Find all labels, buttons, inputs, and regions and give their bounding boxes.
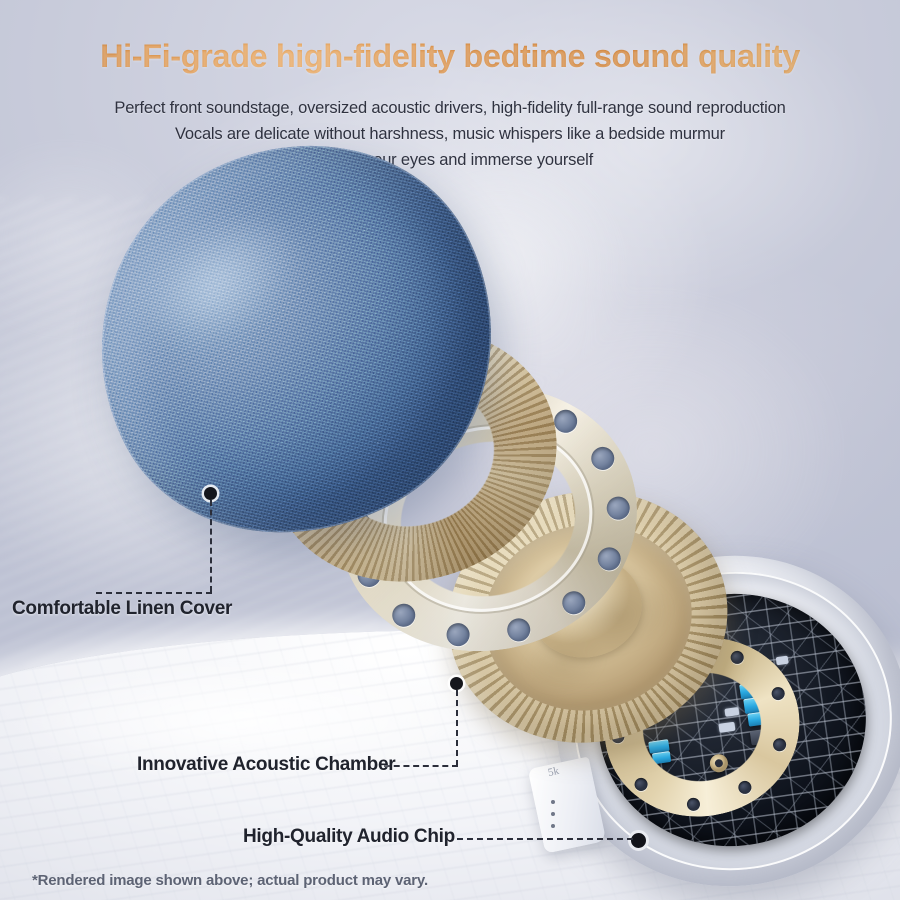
callout-leader-linen-vertical [210,500,212,592]
tab-dot [551,824,555,828]
callout-label-acoustic-chamber: Innovative Acoustic Chamber [137,754,395,776]
callout-leader-linen-horizontal [96,592,212,594]
product-infographic: Hi-Fi-grade high-fidelity bedtime sound … [0,0,900,900]
callout-label-linen-cover: Comfortable Linen Cover [12,598,232,620]
callout-leader-chip-horizontal [457,838,633,840]
page-title: Hi-Fi-grade high-fidelity bedtime sound … [0,38,900,75]
callout-dot-audio-chip [628,830,649,851]
callout-leader-chamber-vertical [456,690,458,766]
disclaimer-text: *Rendered image shown above; actual prod… [32,872,428,889]
callout-label-audio-chip: High-Quality Audio Chip [243,826,455,848]
tab-marking: 5k [547,765,560,779]
tab-dot [551,800,555,804]
callout-dot-acoustic-chamber [450,677,463,690]
tab-dot [551,812,555,816]
callout-dot-linen-cover [204,487,217,500]
subtitle-line-3: —close your eyes and immerse yourself [0,151,900,170]
subtitle-line-2: Vocals are delicate without harshness, m… [0,125,900,144]
subtitle-line-1: Perfect front soundstage, oversized acou… [0,99,900,118]
